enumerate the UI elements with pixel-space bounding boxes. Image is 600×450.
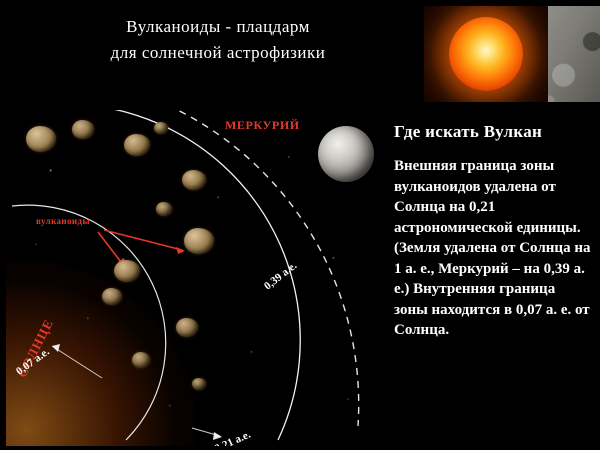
sun-photo: [424, 6, 548, 102]
title-line-2: для солнечной астрофизики: [18, 40, 418, 66]
title-line-1: Вулканоиды - плацдарм: [18, 14, 418, 40]
label-vulcanoids: вулканоиды: [36, 216, 90, 226]
pointer-arrow-2: [104, 230, 182, 250]
poster-root: Вулканоиды - плацдарм для солнечной астр…: [0, 0, 600, 450]
header: Вулканоиды - плацдарм для солнечной астр…: [0, 0, 600, 108]
panel-body: Внешняя граница зоны вулканоидов удалена…: [394, 156, 592, 341]
panel-title: Где искать Вулкан: [394, 122, 542, 142]
pointer-head-2: [176, 247, 185, 254]
text-panel: Где искать Вулкан Внешняя граница зоны в…: [384, 110, 596, 446]
mercury-planet-disc: [318, 126, 374, 182]
mercury-photo: [548, 6, 600, 102]
radius-marker-inner: [52, 346, 102, 378]
orbit-diagram: МЕРКУРИЙ СОЛНЦЕ вулканоиды 0,39 а.е. 0,2…: [6, 110, 378, 446]
sun-disc-icon: [449, 17, 523, 91]
label-mercury: МЕРКУРИЙ: [225, 118, 300, 133]
orbit-arc-021: [66, 110, 300, 440]
mercury-surface-texture: [548, 6, 600, 102]
panel-paragraph: Внешняя граница зоны вулканоидов удалена…: [394, 156, 592, 341]
poster-title: Вулканоиды - плацдарм для солнечной астр…: [18, 14, 418, 66]
radius-arrow-middle: [213, 432, 222, 440]
